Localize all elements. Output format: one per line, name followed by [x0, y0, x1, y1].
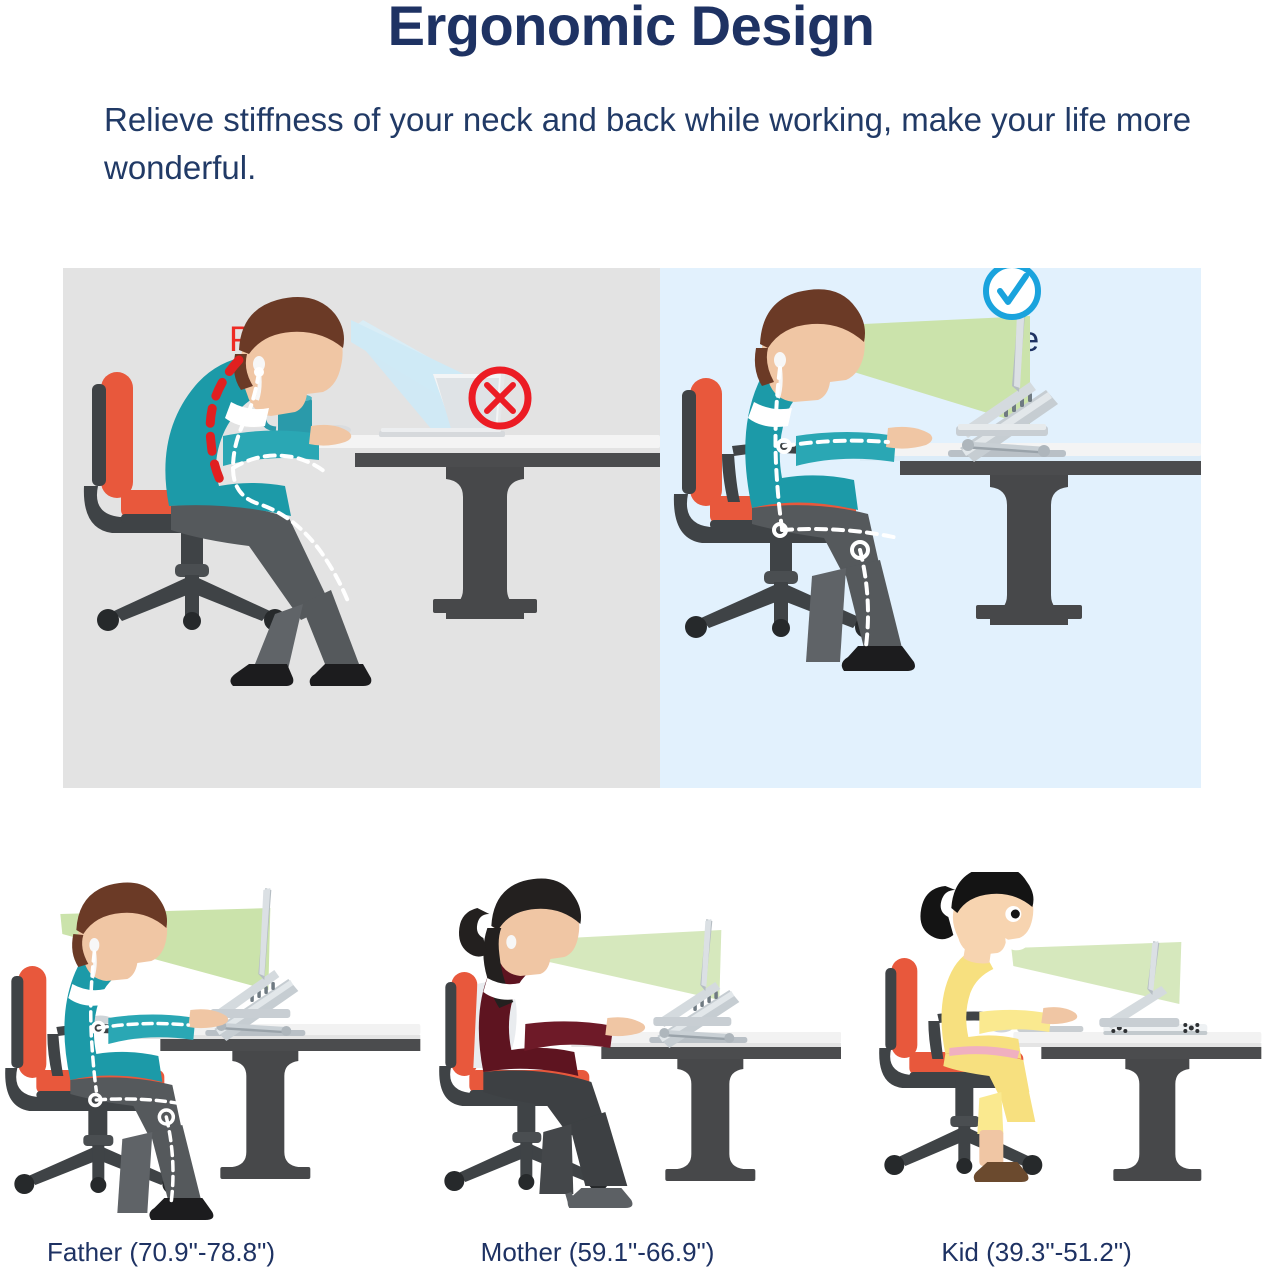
family-cell-father: Father (70.9"-78.8") — [0, 872, 421, 1285]
heeled-shoe — [567, 1188, 632, 1208]
mother-caption: Mother (59.1"-66.9") — [421, 1237, 842, 1268]
kid-caption: Kid (39.3"-51.2") — [841, 1237, 1262, 1268]
person-legs — [483, 1070, 627, 1194]
father-caption: Father (70.9"-78.8") — [0, 1237, 421, 1268]
desk-foot — [1114, 1169, 1202, 1181]
comfortable-panel: Comfortable — [660, 268, 1201, 788]
page-subtitle: Relieve stiffness of your neck and back … — [104, 96, 1224, 192]
desk-leg — [677, 1059, 743, 1179]
family-row: Father (70.9"-78.8") — [0, 872, 1262, 1285]
desk-foot — [220, 1167, 310, 1179]
desk-leg — [990, 475, 1068, 625]
shoe-back — [230, 664, 293, 686]
ponytail — [921, 886, 956, 939]
desk-apron — [1042, 1047, 1262, 1059]
comparison-panel: Painful — [63, 268, 1201, 788]
mother-illustration — [421, 872, 842, 1220]
desk-apron — [900, 461, 1201, 475]
earbud — [506, 935, 516, 949]
desk-apron — [601, 1047, 841, 1059]
desk-foot — [665, 1169, 755, 1181]
earbud — [89, 938, 99, 952]
desk-leg — [446, 467, 524, 619]
earbud — [774, 352, 786, 368]
desk-surface-edge — [308, 448, 660, 453]
circle-check-icon — [986, 268, 1038, 317]
desk-apron — [355, 453, 660, 467]
desk-leg — [232, 1051, 298, 1177]
shoe — [149, 1198, 213, 1220]
page-title: Ergonomic Design — [0, 0, 1262, 58]
hand — [1042, 1007, 1078, 1024]
desk-surface-edge — [1014, 1043, 1262, 1047]
person-head — [921, 872, 1034, 963]
desk-foot — [433, 599, 537, 613]
family-cell-mother: Mother (59.1"-66.9") — [421, 872, 842, 1285]
painful-illustration — [63, 268, 660, 788]
desk-foot — [976, 605, 1082, 619]
desk-leg — [1126, 1059, 1190, 1179]
desk-surface-edge — [571, 1043, 841, 1047]
comfortable-illustration — [660, 268, 1201, 788]
posture-joint-shoulder — [254, 367, 264, 377]
painful-panel: Painful — [63, 268, 660, 788]
ergonomic-design-page: Ergonomic Design Relieve stiffness of yo… — [0, 0, 1262, 1285]
ponytail — [459, 908, 489, 957]
family-cell-kid: Kid (39.3"-51.2") — [841, 872, 1262, 1285]
kid-illustration — [841, 872, 1262, 1220]
desk-apron — [160, 1039, 420, 1051]
shoe — [842, 646, 915, 671]
shin — [980, 1130, 1004, 1166]
shoe-front — [310, 664, 372, 686]
pupil — [1011, 910, 1020, 919]
father-illustration — [0, 872, 421, 1220]
